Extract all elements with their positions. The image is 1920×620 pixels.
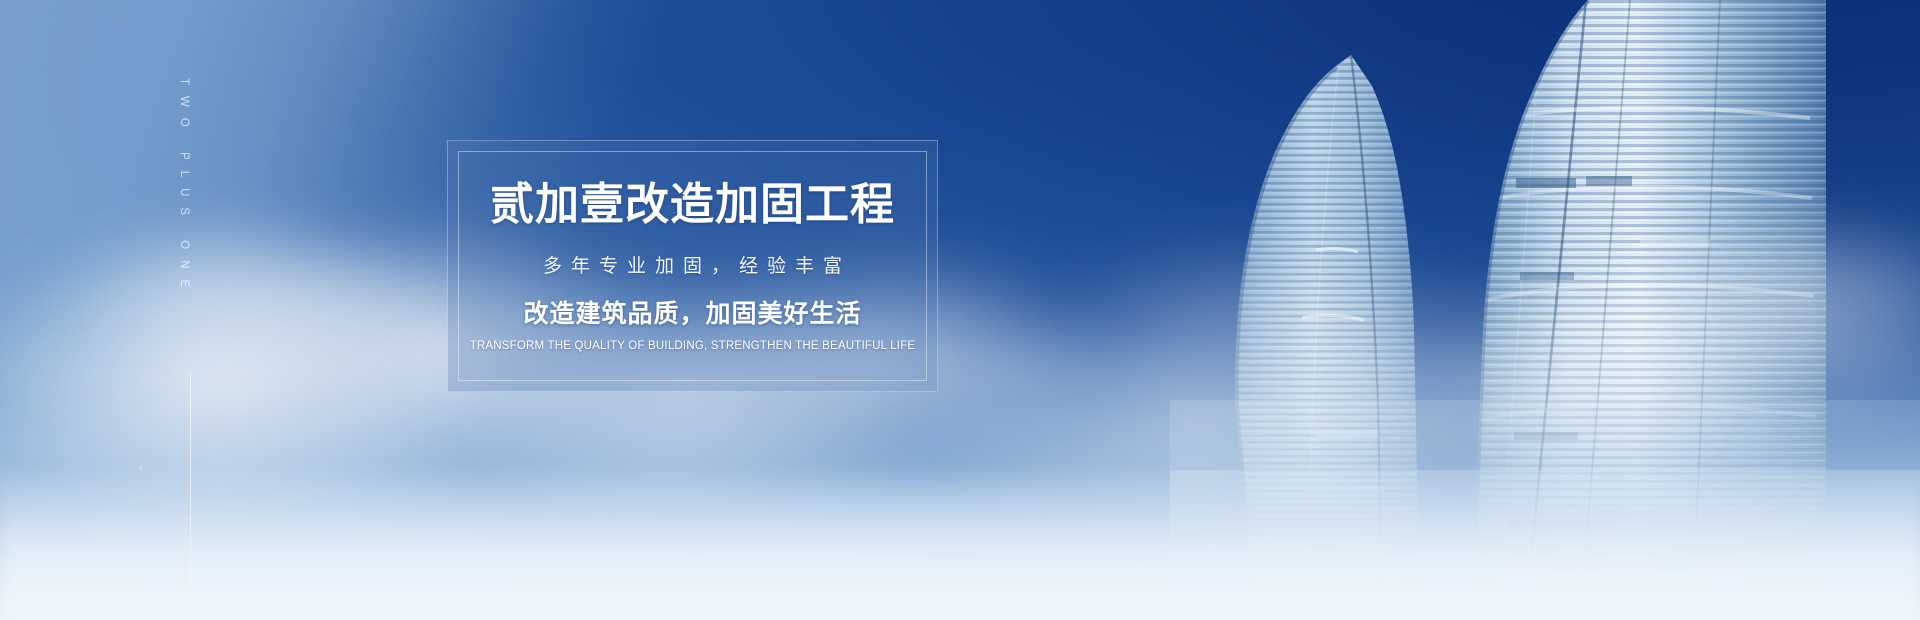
page-slogan-english: TRANSFORM THE QUALITY OF BUILDING, STREN…: [470, 341, 916, 353]
brand-corner-mark: ⌐: [136, 466, 146, 472]
hero-banner: TWO PLUS ONE ⌐ 贰加壹改造加固工程 多年专业加固，经验丰富 改造建…: [0, 0, 1920, 620]
brand-vertical-text: TWO PLUS ONE: [178, 78, 190, 298]
cloud-puff: [1050, 230, 1480, 390]
page-slogan: 改造建筑品质，加固美好生活: [523, 302, 861, 327]
hero-text-panel: 贰加壹改造加固工程 多年专业加固，经验丰富 改造建筑品质，加固美好生活 TRAN…: [447, 140, 938, 392]
page-subtitle: 多年专业加固，经验丰富: [534, 257, 851, 276]
panel-content: 贰加壹改造加固工程 多年专业加固，经验丰富 改造建筑品质，加固美好生活 TRAN…: [448, 141, 937, 391]
page-title: 贰加壹改造加固工程: [490, 183, 895, 227]
cloud-floor: [0, 470, 1920, 620]
brand-vertical-rule: [190, 372, 191, 620]
cloud-puff: [60, 210, 420, 380]
